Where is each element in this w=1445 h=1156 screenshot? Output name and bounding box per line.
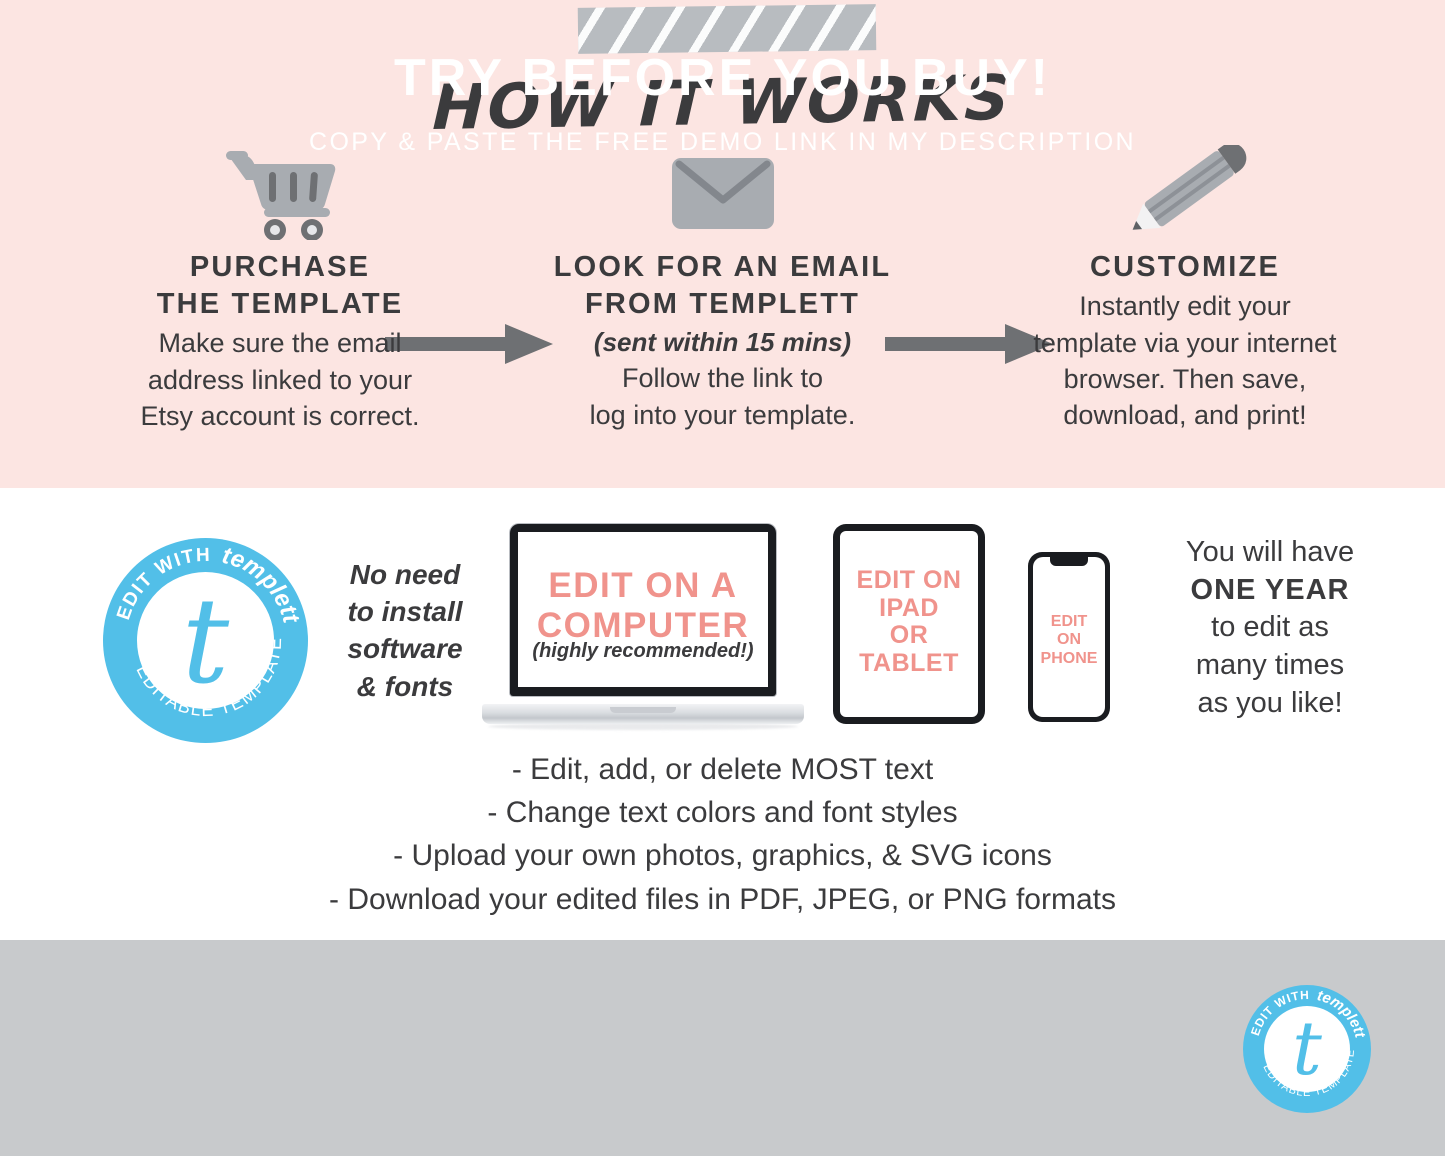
phone-screen: EDIT ON PHONE [1033,557,1105,717]
step-body: (sent within 15 mins) Follow the link to… [500,325,945,433]
feature-bullet-list: - Edit, add, or delete MOST text - Chang… [0,748,1445,921]
templett-badge-footer: EDIT WITH templett EDITABLE TEMPLATE t [1243,985,1371,1113]
laptop-shadow [488,723,798,730]
step-heading: LOOK FOR AN EMAIL FROM TEMPLETT [500,249,945,323]
one-year-emphasis: ONE YEAR [1125,572,1415,610]
list-item: - Change text colors and font styles [0,791,1445,834]
footer-section [0,940,1445,1156]
phone-screen-text: EDIT ON PHONE [1033,613,1105,668]
phone-notch-icon [1050,557,1088,566]
list-item: - Upload your own photos, graphics, & SV… [0,834,1445,877]
washi-tape-icon [578,4,877,54]
step-heading: CUSTOMIZE [960,249,1410,286]
footer-subtitle: COPY & PASTE THE FREE DEMO LINK IN MY DE… [0,128,1445,157]
step-purchase: PURCHASE THE TEMPLATE Make sure the emai… [60,140,500,435]
tablet-device: EDIT ON IPAD OR TABLET [833,524,985,724]
phone-device: EDIT ON PHONE [1028,552,1110,722]
step-italic-note: (sent within 15 mins) [500,325,945,360]
steps-row: PURCHASE THE TEMPLATE Make sure the emai… [0,140,1445,470]
laptop-screen: EDIT ON A COMPUTER (highly recommended!) [518,532,768,687]
list-item: - Download your edited files in PDF, JPE… [0,878,1445,921]
badge-center-letter: t [1243,1012,1371,1086]
no-install-note: No need to install software & fonts [330,556,480,705]
tablet-screen-text: EDIT ON IPAD OR TABLET [840,567,978,677]
laptop-screen-note: (highly recommended!) [518,640,768,663]
templett-badge-main: EDIT WITH templett EDITABLE TEMPLATE t [103,538,308,743]
laptop-device: EDIT ON A COMPUTER (highly recommended!) [482,524,804,730]
infographic-page: HOW IT WORKS [0,0,1445,1156]
laptop-screen-heading: EDIT ON A COMPUTER [518,566,768,646]
laptop-notch [610,707,676,713]
step-email: LOOK FOR AN EMAIL FROM TEMPLETT (sent wi… [500,140,945,433]
one-year-note: You will have ONE YEAR to edit as many t… [1125,534,1415,722]
badge-center-letter: t [103,582,308,700]
step-heading: PURCHASE THE TEMPLATE [60,249,500,323]
step-body: Instantly edit your template via your in… [960,288,1410,434]
list-item: - Edit, add, or delete MOST text [0,748,1445,791]
step-body: Make sure the email address linked to yo… [60,325,500,434]
laptop-lid: EDIT ON A COMPUTER (highly recommended!) [510,524,776,696]
tablet-screen: EDIT ON IPAD OR TABLET [840,531,978,717]
step-customize: CUSTOMIZE Instantly edit your template v… [960,140,1410,434]
footer-title: TRY BEFORE YOU BUY! [0,48,1445,108]
